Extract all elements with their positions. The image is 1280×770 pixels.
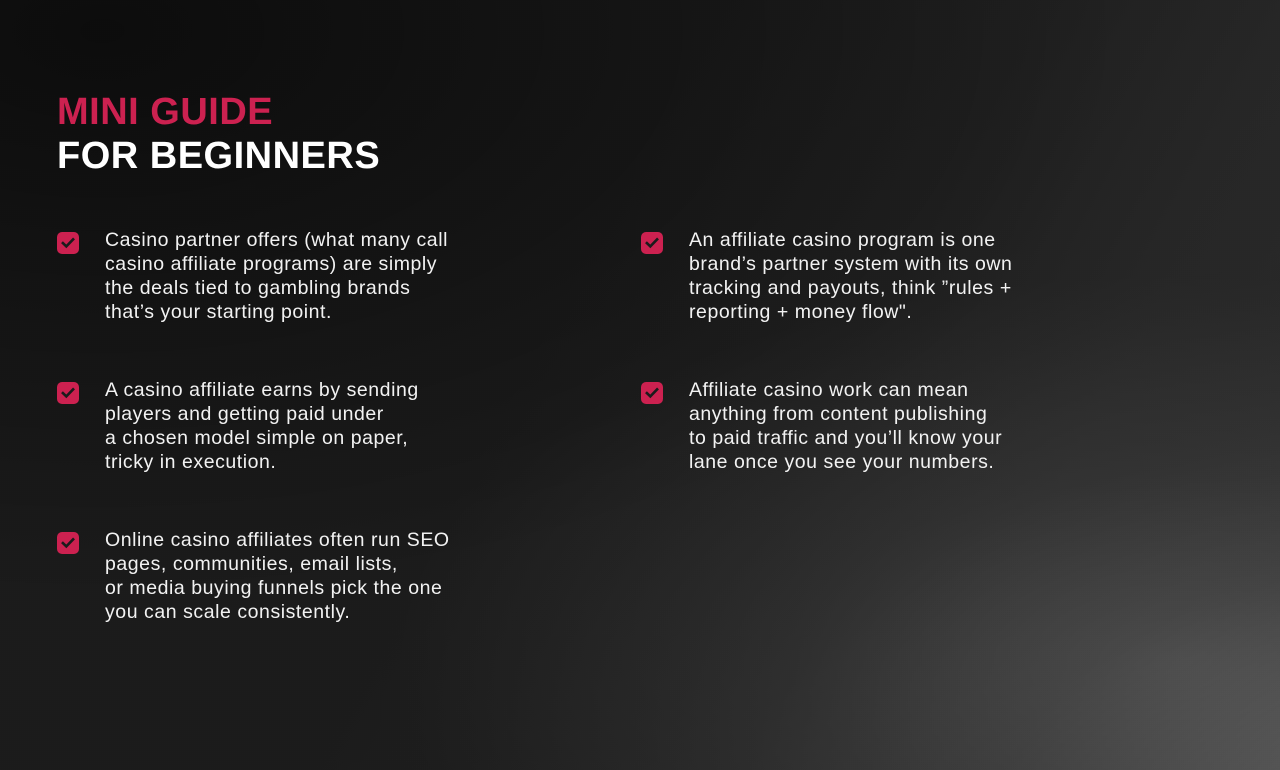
- list-item-text: Casino partner offers (what many call ca…: [105, 228, 448, 324]
- checkbox-checked-icon[interactable]: [641, 382, 663, 404]
- list-item: Casino partner offers (what many call ca…: [57, 228, 597, 332]
- checkbox-checked-icon[interactable]: [57, 532, 79, 554]
- checklist-column-left: Casino partner offers (what many call ca…: [57, 228, 597, 632]
- list-item: A casino affiliate earns by sending play…: [57, 378, 597, 482]
- list-item: Online casino affiliates often run SEO p…: [57, 528, 597, 632]
- checkbox-checked-icon[interactable]: [641, 232, 663, 254]
- list-item-text: A casino affiliate earns by sending play…: [105, 378, 419, 474]
- list-item-text: An affiliate casino program is one brand…: [689, 228, 1012, 324]
- list-item: An affiliate casino program is one brand…: [641, 228, 1141, 332]
- page-title: MINI GUIDE FOR BEGINNERS: [57, 90, 380, 178]
- checklist-column-right: An affiliate casino program is one brand…: [641, 228, 1141, 482]
- slide-canvas: MINI GUIDE FOR BEGINNERS Casino partner …: [0, 0, 1280, 770]
- list-item-text: Affiliate casino work can mean anything …: [689, 378, 1002, 474]
- list-item: Affiliate casino work can mean anything …: [641, 378, 1141, 482]
- slide-content: MINI GUIDE FOR BEGINNERS Casino partner …: [0, 0, 1280, 770]
- page-title-line-main: FOR BEGINNERS: [57, 134, 380, 178]
- checkbox-checked-icon[interactable]: [57, 232, 79, 254]
- list-item-text: Online casino affiliates often run SEO p…: [105, 528, 450, 624]
- page-title-line-accent: MINI GUIDE: [57, 90, 380, 134]
- checkbox-checked-icon[interactable]: [57, 382, 79, 404]
